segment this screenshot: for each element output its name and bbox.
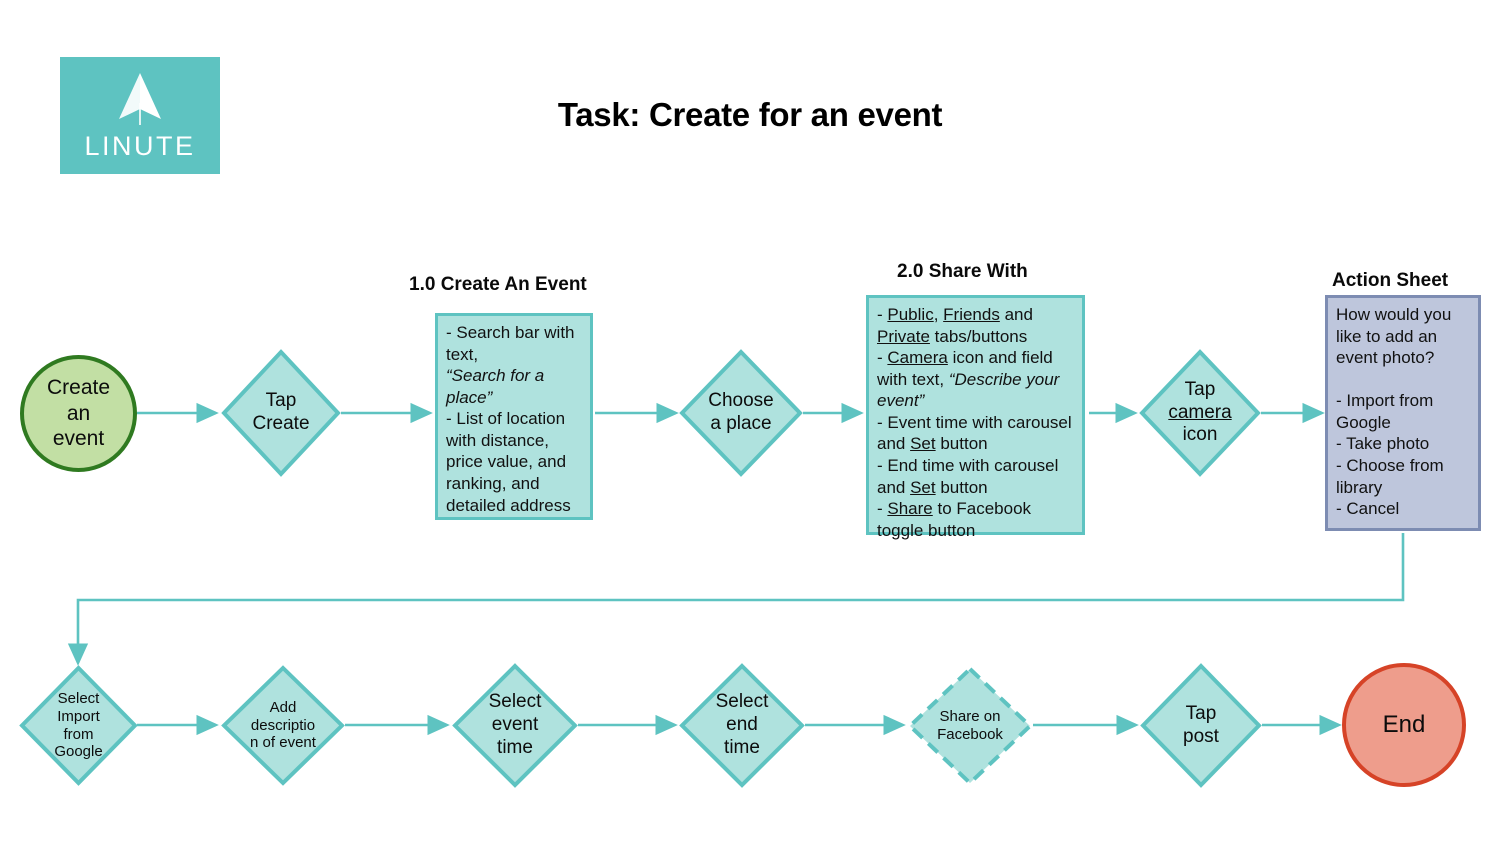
node-end-label: End: [1383, 710, 1426, 739]
section-caption-create-an-event: 1.0 Create An Event: [409, 274, 587, 296]
node-tap-create[interactable]: TapCreate: [221, 349, 341, 477]
diamond-shape: [221, 665, 345, 786]
diamond-shape-dashed: [907, 666, 1033, 786]
screen-box-share-with[interactable]: - Public, Friends and Private tabs/butto…: [866, 295, 1085, 535]
section-caption-action-sheet: Action Sheet: [1332, 270, 1448, 292]
screen-box-create-an-event[interactable]: - Search bar with text, “Search for a pl…: [435, 313, 593, 520]
diamond-shape: [679, 663, 805, 788]
node-select-import-from-google[interactable]: SelectImportfromGoogle: [19, 665, 138, 786]
screen-box-action-sheet[interactable]: How would you like to add an event photo…: [1325, 295, 1481, 531]
diamond-shape: [1140, 663, 1262, 788]
node-add-description[interactable]: Adddescription of event: [221, 665, 345, 786]
node-start[interactable]: Createanevent: [20, 355, 137, 472]
diamond-shape: [452, 663, 578, 788]
node-select-end-time[interactable]: Selectendtime: [679, 663, 805, 788]
diamond-shape: [1139, 349, 1261, 477]
node-tap-post[interactable]: Tappost: [1140, 663, 1262, 788]
diamond-shape: [19, 665, 138, 786]
diamond-shape: [221, 349, 341, 477]
node-tap-camera-icon[interactable]: Tapcameraicon: [1139, 349, 1261, 477]
section-caption-share-with: 2.0 Share With: [897, 261, 1028, 283]
brand-wordmark: LINUTE: [84, 131, 195, 162]
page-title: Task: Create for an event: [0, 96, 1500, 134]
diamond-shape: [679, 349, 803, 477]
node-start-label: Createanevent: [47, 375, 110, 452]
flowchart-canvas: LINUTE Task: Create for an event 1.0 Cre…: [0, 0, 1500, 865]
node-choose-a-place[interactable]: Choosea place: [679, 349, 803, 477]
node-share-on-facebook[interactable]: Share onFacebook: [907, 666, 1033, 786]
node-end[interactable]: End: [1342, 663, 1466, 787]
node-select-event-time[interactable]: Selecteventtime: [452, 663, 578, 788]
